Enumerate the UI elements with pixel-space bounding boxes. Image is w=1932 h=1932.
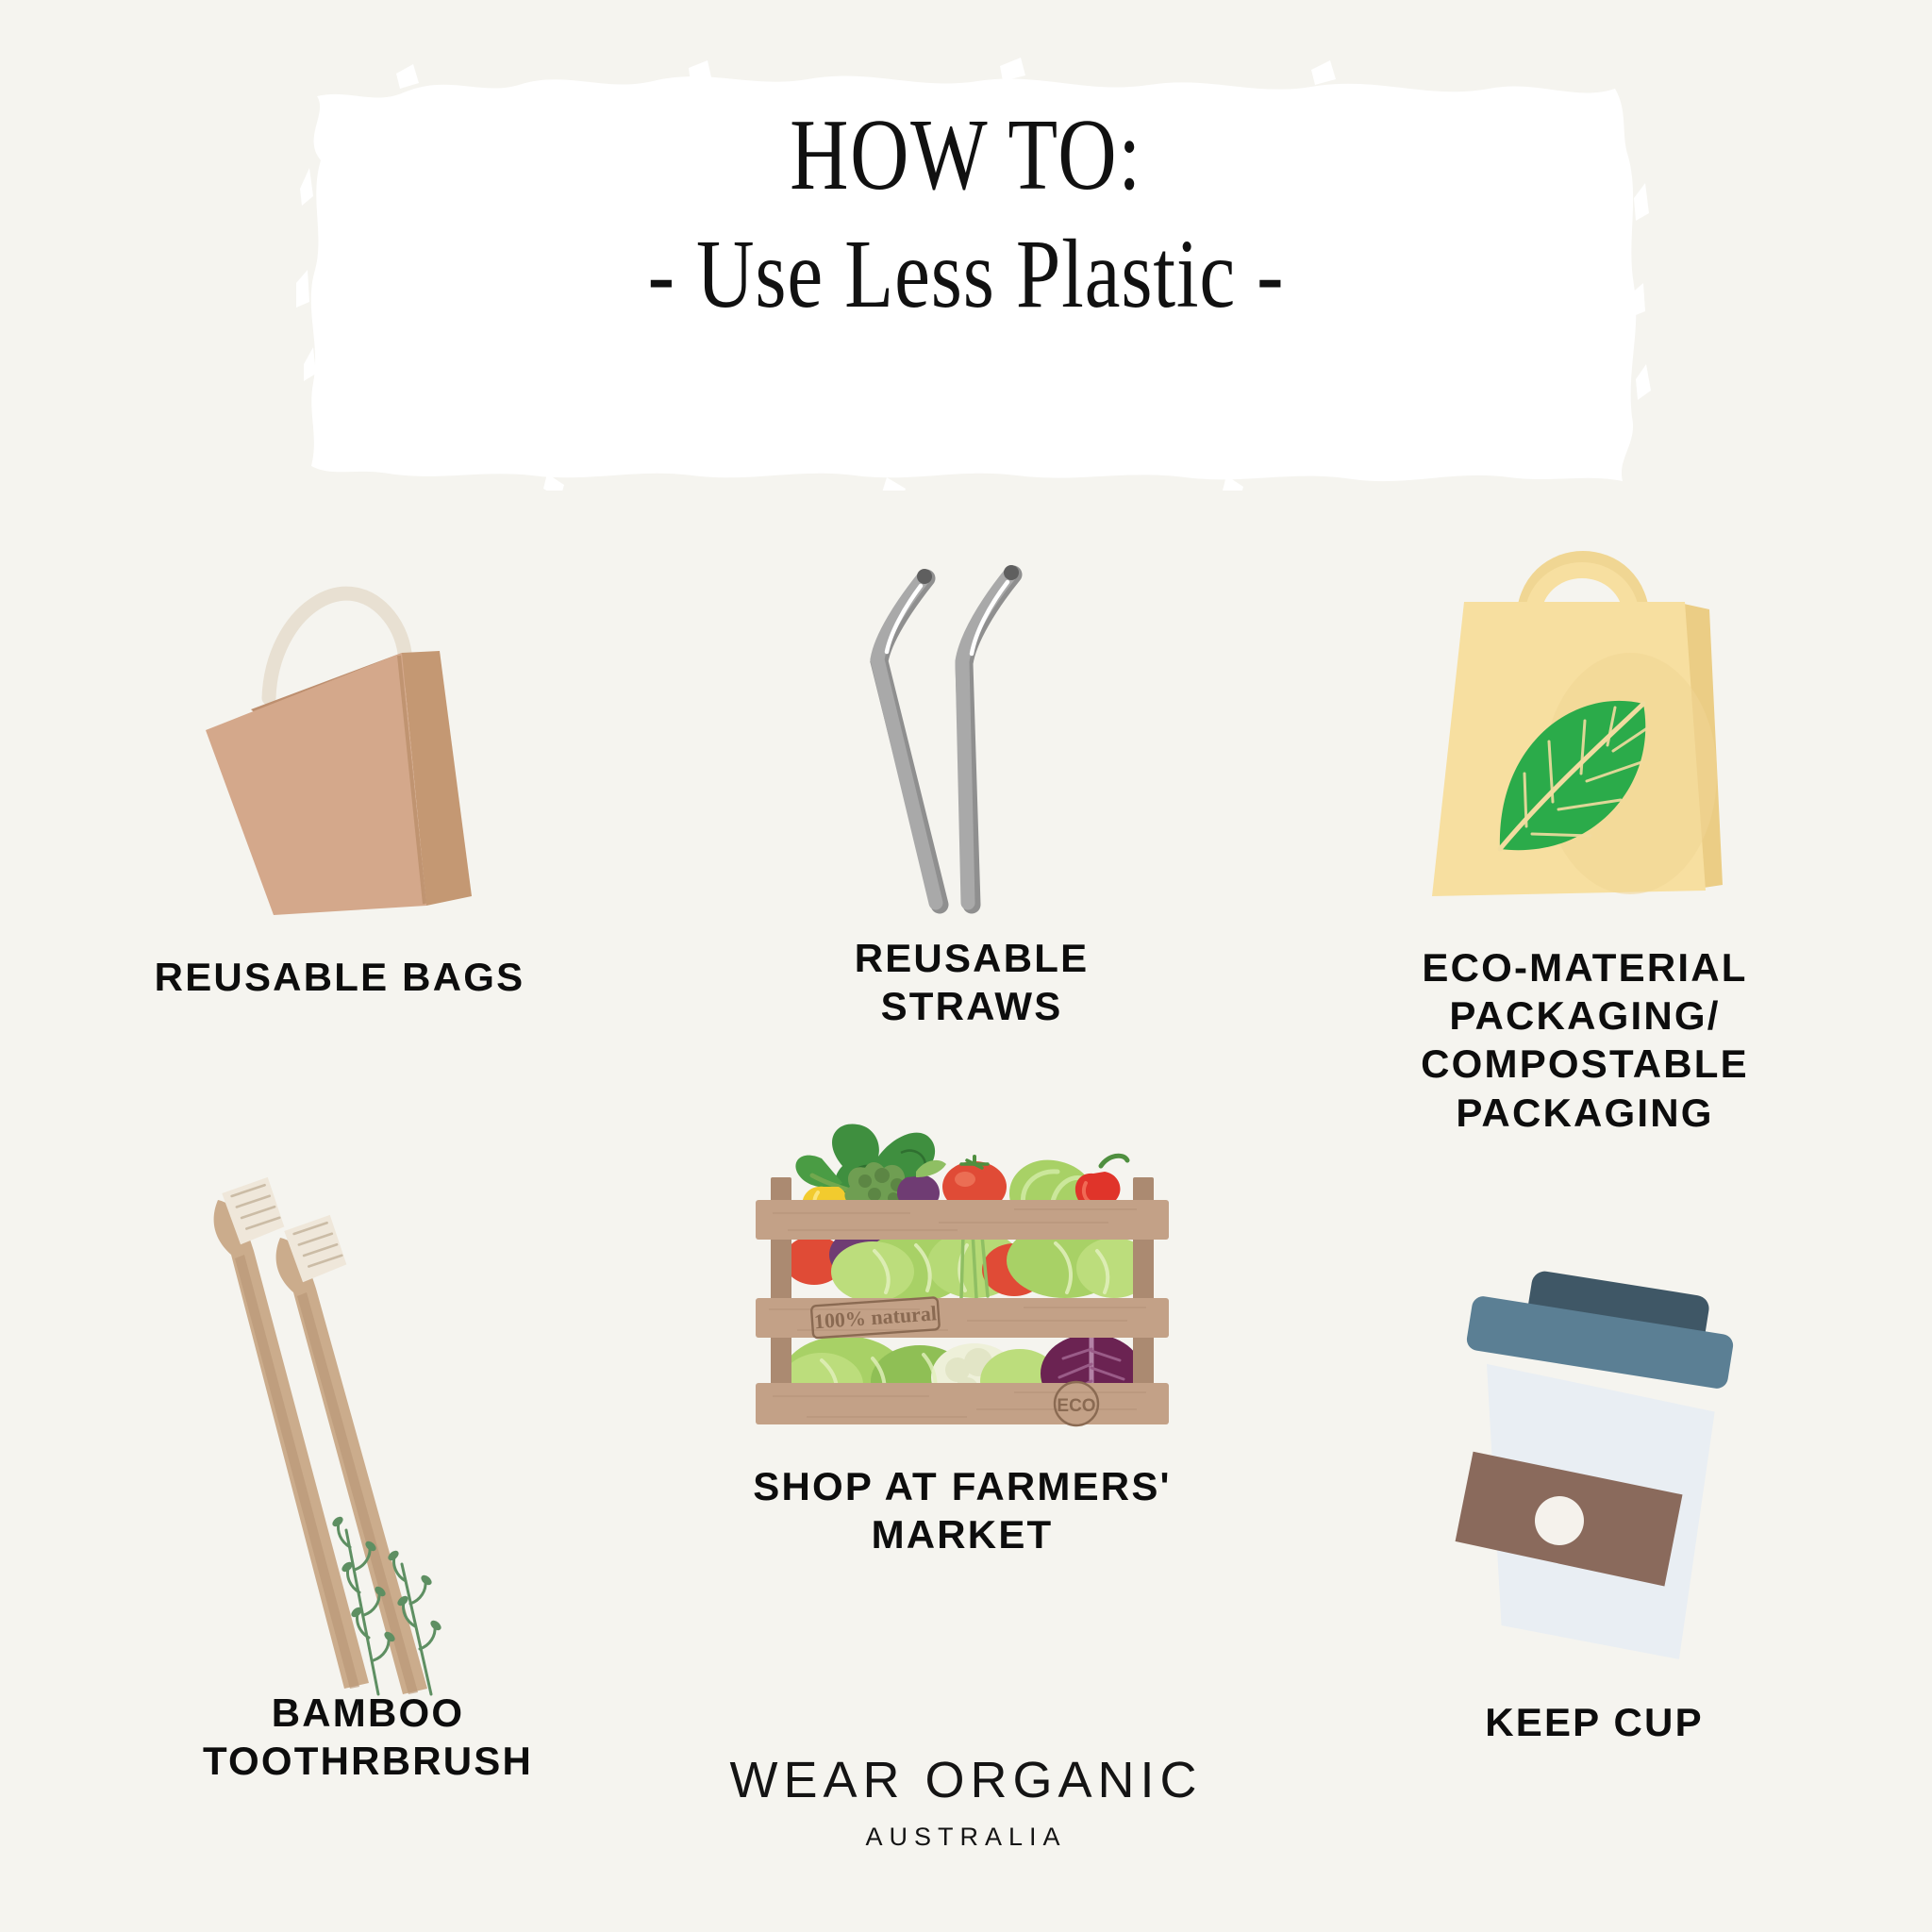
eco-tote-bag-leaf-icon — [1406, 491, 1802, 915]
header-banner — [283, 47, 1651, 491]
vegetable-crate-icon: 100% natural ECO — [731, 1066, 1193, 1434]
paper-shopping-bag-icon — [170, 509, 547, 915]
label-farmers-market: SHOP AT FARMERS' MARKET — [689, 1462, 1236, 1558]
label-reusable-straws: REUSABLE STRAWS — [689, 934, 1255, 1030]
bamboo-toothbrush-icon — [184, 1160, 467, 1698]
metal-straws-icon — [849, 552, 1094, 920]
crate-eco-badge-text: ECO — [1057, 1396, 1095, 1416]
label-reusable-bags: REUSABLE BAGS — [38, 953, 641, 1001]
brand-country: AUSTRALIA — [0, 1823, 1932, 1852]
reusable-coffee-cup-icon — [1434, 1264, 1736, 1660]
label-bamboo-toothbrush: BAMBOO TOOTHRBRUSH — [85, 1689, 651, 1785]
label-eco-packaging: ECO-MATERIAL PACKAGING/ COMPOSTABLE PACK… — [1321, 943, 1849, 1137]
label-keep-cup: KEEP CUP — [1358, 1698, 1830, 1746]
infographic-poster: HOW TO: - Use Less Plastic - REUSABLE BA… — [0, 0, 1932, 1932]
